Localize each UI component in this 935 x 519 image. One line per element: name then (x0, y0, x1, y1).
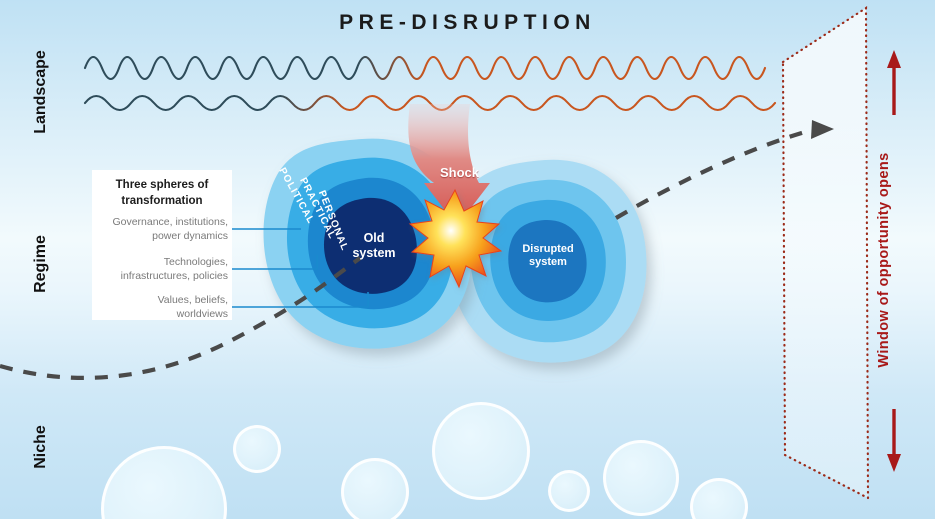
legend-heading: Three spheres of transformation (96, 178, 228, 209)
old-system-label-line1: Old (364, 231, 385, 245)
disrupted-system-label-line1: Disrupted (522, 243, 573, 255)
old-system-label-line2: system (352, 246, 395, 260)
shock-label: Shock (440, 165, 479, 180)
window-of-opportunity-group: Window of opportunity opens (876, 120, 910, 400)
legend-item-political: Governance, institutions, power dynamics (84, 215, 228, 244)
legend-heading-line2: transformation (121, 195, 202, 207)
window-down-arrow-icon (887, 409, 901, 472)
axis-label-regime: Regime (32, 214, 50, 314)
landscape-wave-top (85, 57, 765, 79)
disrupted-system-label: Disrupted system (505, 243, 591, 270)
legend-practical-line2: infrastructures, policies (121, 270, 228, 282)
legend-practical-line1: Technologies, (164, 256, 228, 268)
legend-item-practical: Technologies, infrastructures, policies (84, 255, 228, 284)
window-up-arrow-icon (887, 50, 901, 115)
legend-personal-line1: Values, beliefs, (158, 294, 228, 306)
diagram-canvas: PRE-DISRUPTION Landscape Regime Niche Th… (0, 0, 935, 519)
old-system-label: Old system (333, 231, 415, 262)
legend-personal-line2: worldviews (177, 308, 228, 320)
page-title: PRE-DISRUPTION (0, 11, 935, 35)
legend-political-line2: power dynamics (152, 230, 228, 242)
legend-heading-line1: Three spheres of (116, 179, 209, 191)
legend-item-personal: Values, beliefs, worldviews (84, 293, 228, 322)
window-of-opportunity-shape (783, 8, 868, 498)
window-of-opportunity-label: Window of opportunity opens (876, 120, 910, 400)
axis-label-landscape: Landscape (32, 42, 50, 142)
legend-political-line1: Governance, institutions, (112, 216, 228, 228)
disrupted-system-label-line2: system (529, 256, 567, 268)
axis-label-niche: Niche (32, 397, 50, 497)
